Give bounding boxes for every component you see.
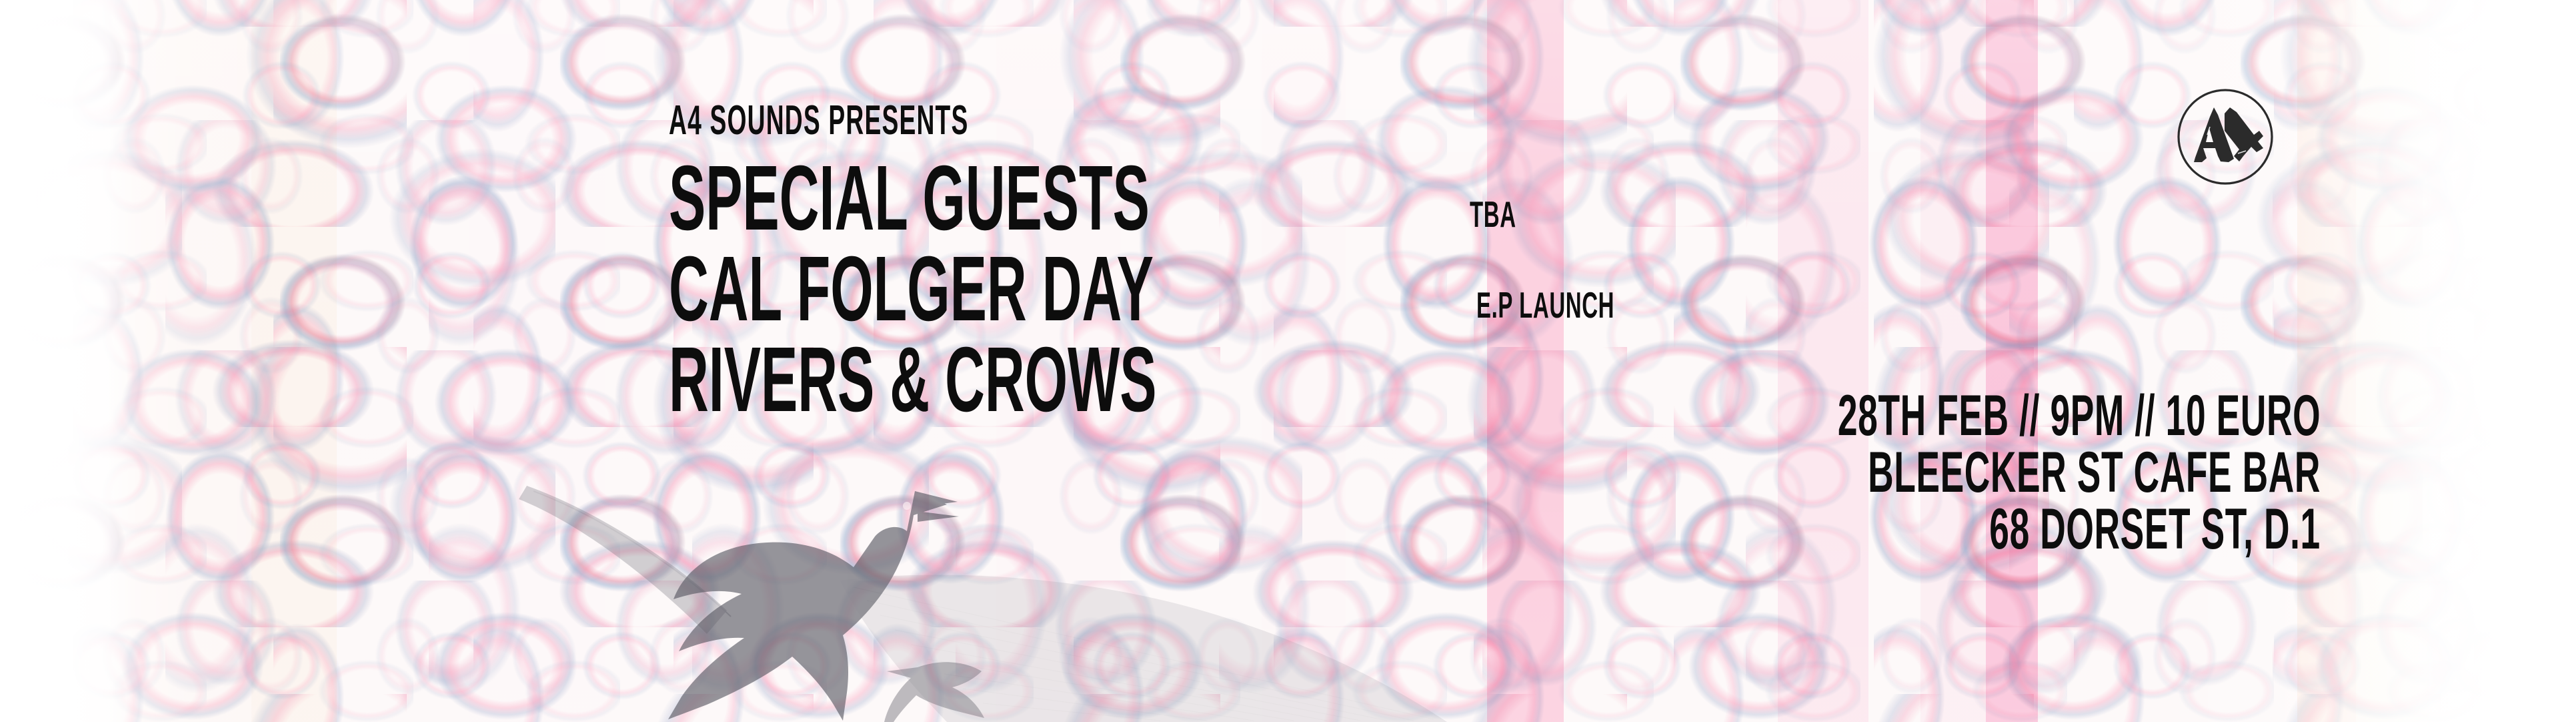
- detail-date-time-price: 28TH FEB // 9PM // 10 EURO: [1542, 387, 2321, 439]
- a4-sounds-logo-icon: [2175, 87, 2275, 187]
- background-stripe: [103, 0, 251, 722]
- background-stripe: [0, 0, 103, 722]
- event-details-block: 28TH FEB // 9PM // 10 EURO BLEECKER ST C…: [1542, 387, 2321, 557]
- background-stripe: [1700, 0, 1778, 722]
- act-name: RIVERS & CROWS: [669, 334, 1482, 426]
- hatched-wing-icon: [840, 575, 1447, 722]
- background-stripe: [469, 0, 605, 722]
- detail-address: 68 DORSET ST, D.1: [1542, 500, 2321, 553]
- crow-small-icon: [884, 662, 984, 722]
- background-stripe: [2356, 0, 2429, 722]
- act-row: SPECIAL GUESTS TBA: [669, 152, 1707, 240]
- event-poster-banner: A4 SOUNDS PRESENTS SPECIAL GUESTS TBA CA…: [0, 0, 2576, 722]
- background-stripe: [337, 0, 469, 722]
- act-name: CAL FOLGER DAY: [669, 243, 1476, 335]
- act-tag: E.P LAUNCH: [1476, 287, 1706, 324]
- bird-artwork-group: [507, 467, 1507, 722]
- background-stripe: [251, 0, 337, 722]
- act-row: CAL FOLGER DAY E.P LAUNCH: [669, 243, 1707, 331]
- act-name: SPECIAL GUESTS: [669, 152, 1470, 244]
- background-stripe: [1920, 0, 1986, 722]
- background-stripe: [2297, 0, 2356, 722]
- background-stripe: [1778, 0, 1868, 722]
- background-stripe: [1986, 0, 2038, 722]
- detail-venue: BLEECKER ST CAFE BAR: [1542, 444, 2321, 496]
- headline-block: A4 SOUNDS PRESENTS SPECIAL GUESTS TBA CA…: [669, 100, 1707, 424]
- act-tag: TBA: [1470, 196, 1547, 233]
- crow-large-icon: [668, 491, 959, 721]
- background-stripe: [1868, 0, 1920, 722]
- background-stripe: [2429, 0, 2576, 722]
- feather-sweep-icon: [519, 486, 731, 634]
- background-stripe: [2038, 0, 2155, 722]
- presents-line: A4 SOUNDS PRESENTS: [669, 100, 1707, 141]
